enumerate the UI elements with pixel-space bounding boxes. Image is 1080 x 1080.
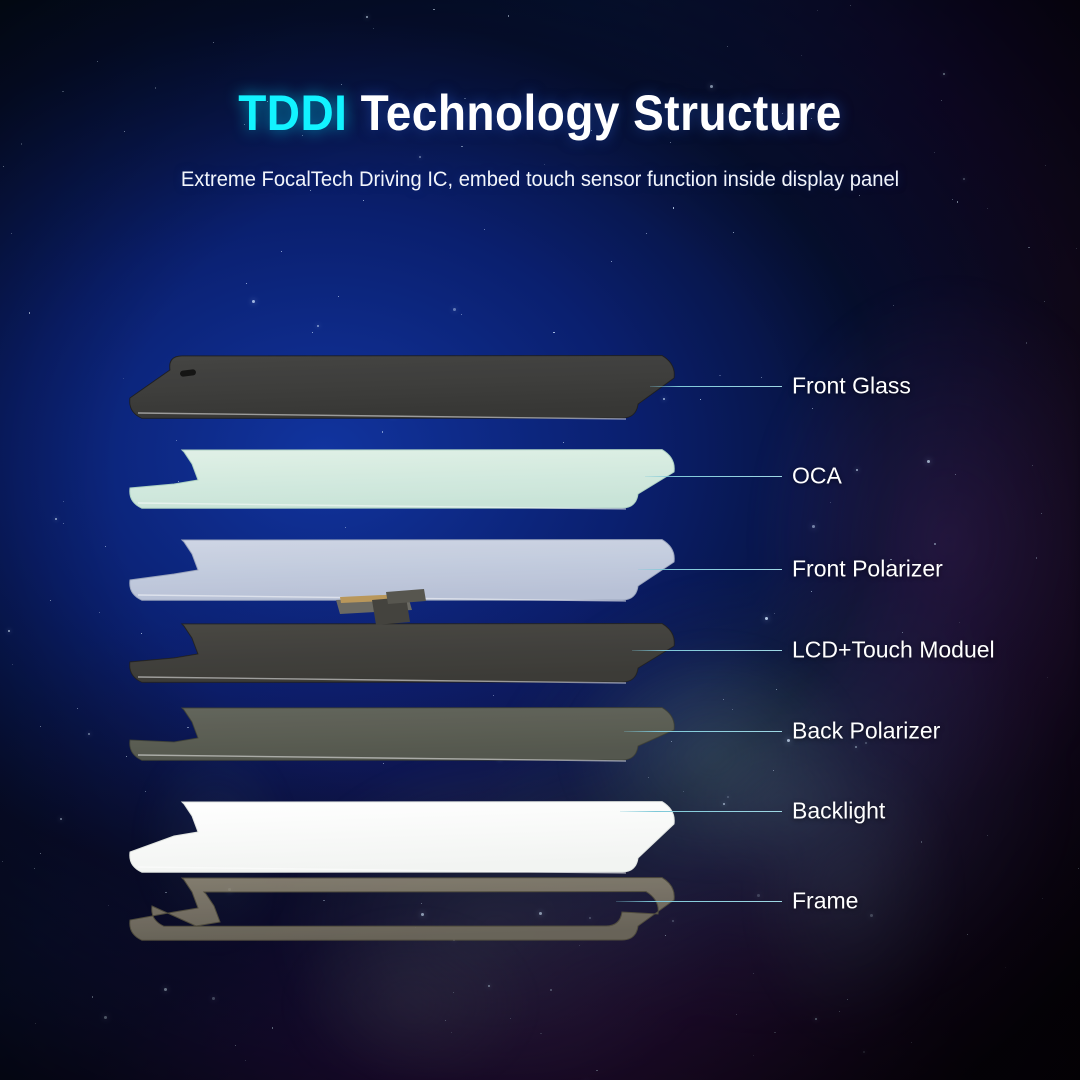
layer-label-oca: OCA xyxy=(792,463,842,490)
infographic-canvas: TDDI Technology Structure Extreme FocalT… xyxy=(0,0,1080,1080)
layer-label-frame: Frame xyxy=(792,888,858,915)
leader-line-lcd-touch-module xyxy=(632,650,782,651)
layer-label-backlight: Backlight xyxy=(792,798,885,825)
layer-label-lcd-touch-module: LCD+Touch Moduel xyxy=(792,637,995,664)
callout-group: Front GlassOCAFront PolarizerLCD+Touch M… xyxy=(0,0,1080,1080)
leader-line-front-polarizer xyxy=(638,569,782,570)
leader-line-front-glass xyxy=(650,386,782,387)
leader-line-frame xyxy=(616,901,782,902)
leader-line-backlight xyxy=(620,811,782,812)
leader-line-oca xyxy=(645,476,782,477)
layer-label-front-glass: Front Glass xyxy=(792,373,911,400)
layer-label-front-polarizer: Front Polarizer xyxy=(792,556,943,583)
layer-label-back-polarizer: Back Polarizer xyxy=(792,718,940,745)
leader-line-back-polarizer xyxy=(624,731,782,732)
